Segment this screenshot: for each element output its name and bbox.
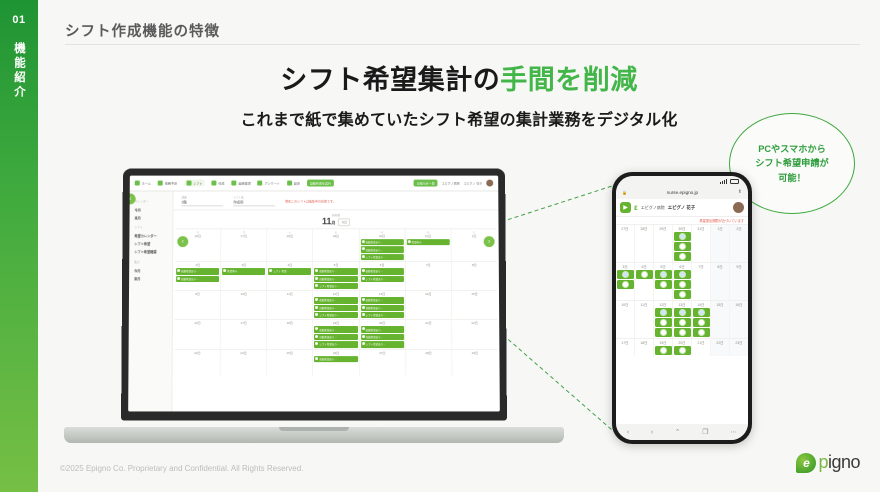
calendar-event[interactable]: シフト希望あり… <box>314 341 357 347</box>
calendar-cell[interactable]: 日26日 <box>175 229 221 261</box>
phone-shift-chip[interactable] <box>655 346 672 355</box>
calendar-event[interactable]: 日勤希望あり… <box>361 334 404 340</box>
nav-label: シフト <box>193 181 202 186</box>
shift-badge-icon <box>679 329 686 336</box>
phone-day-number: 10日 <box>617 302 634 307</box>
phone-calendar-cell[interactable]: 20日 <box>673 339 692 356</box>
phone-calendar-cell[interactable]: 16日 <box>730 301 748 338</box>
phone-day-number: 5日 <box>655 264 672 269</box>
phone-day-number: 29日 <box>655 226 672 231</box>
calendar-day-number: 23日 <box>176 351 219 355</box>
calendar-day-number: 8日 <box>453 263 496 267</box>
calendar-cell[interactable]: 16日 <box>175 320 221 348</box>
phone-calendar-cell[interactable]: 9日 <box>730 263 748 300</box>
phone-day-number: 18日 <box>636 340 653 345</box>
calendar-cell[interactable]: 23日 <box>175 350 221 376</box>
calendar-event[interactable]: 希望休み <box>407 239 450 245</box>
sidebar-item-total-next-month[interactable]: 来月 <box>132 274 169 282</box>
phone-shift-chip[interactable] <box>693 308 710 317</box>
avatar[interactable] <box>486 180 493 187</box>
calendar-event[interactable]: シフト希望あり… <box>361 276 404 282</box>
gear-icon <box>287 181 292 186</box>
calendar-day-number: 29日 <box>314 234 357 238</box>
phone-day-number: 27日 <box>617 226 634 231</box>
phone-statusbar <box>616 176 748 187</box>
phone-day-number: 14日 <box>693 302 710 307</box>
shift-badge-icon <box>698 309 705 316</box>
forward-icon[interactable]: › <box>651 429 653 436</box>
today-button[interactable]: 今日 <box>338 218 350 226</box>
calendar-cell[interactable]: 22日 <box>452 320 497 348</box>
phone-calendar-cell[interactable]: 23日 <box>730 339 748 356</box>
phone-day-number: 11日 <box>636 302 653 307</box>
phone-calendar-cell[interactable]: 13日 <box>673 301 692 338</box>
shift-badge-icon <box>660 281 667 288</box>
phone-calendar-cell[interactable]: 12日 <box>654 301 673 338</box>
shift-badge-icon <box>660 329 667 336</box>
calendar-day-number: 12日 <box>314 292 357 296</box>
phone-calendar-cell[interactable]: 31日 <box>692 225 711 262</box>
navbar-right: お知らせ一覧 エピグノ病院 エピグノ 花子 <box>414 180 493 187</box>
filter-department[interactable]: 部署 3階 <box>181 195 223 206</box>
shift-badge-icon <box>679 281 686 288</box>
calendar-row: 16日17日18日19日夜勤希望あり…日勤希望あり…シフト希望あり…20日夜勤希… <box>175 319 498 348</box>
laptop-screen: ホーム 勤務予定 シフト 作成 連絡事項 <box>128 176 500 412</box>
home-icon <box>135 181 140 186</box>
calendar-cell[interactable]: 28日 <box>406 350 452 376</box>
calendar-day-number: 24日 <box>222 351 265 355</box>
phone-mockup: 🔒 nurse.epigno.jp ⬆ ▶ ε エピグノ病院 エピグノ 花子 希… <box>612 172 752 447</box>
sidebar-item-shift-wish[interactable]: シフト希望 <box>132 240 169 248</box>
calendar-event[interactable]: 夜勤希望あり… <box>314 268 357 274</box>
phone-calendar-cell[interactable]: 15日 <box>711 301 730 338</box>
phone-calendar-cell[interactable]: 28日 <box>635 225 654 262</box>
calendar-event[interactable]: シフト希望あり… <box>314 283 357 289</box>
phone-day-number: 2日 <box>731 226 748 231</box>
auto-create-button[interactable]: 自動作成を実行 <box>307 180 334 187</box>
calendar-day-number: 18日 <box>268 321 311 325</box>
calendar-event[interactable]: 夜勤希望あり… <box>361 326 404 332</box>
phone-calendar-cell[interactable]: 7日 <box>692 263 711 300</box>
calendar-cell[interactable]: 14日 <box>406 291 452 319</box>
calendar-event[interactable]: 夜勤希望あり… <box>314 356 357 362</box>
calendar-event[interactable]: シフト希望あり… <box>361 341 404 347</box>
calendar-day-number: 17日 <box>222 321 265 325</box>
phone-calendar-cell[interactable]: 27日 <box>616 225 635 262</box>
calendar-event[interactable]: 希望休み <box>222 268 265 274</box>
shift-badge-icon <box>679 319 686 326</box>
nav-item-home[interactable]: ホーム <box>135 181 151 186</box>
page-title: シフト希望集計の手間を削減 <box>38 58 880 97</box>
calendar-icon <box>186 181 191 186</box>
phone-shift-chip[interactable] <box>674 270 691 279</box>
phone-shift-chip[interactable] <box>693 318 710 327</box>
section-rail: 01 機能紹介 <box>0 0 38 492</box>
header-divider <box>65 44 860 45</box>
laptop-base <box>64 427 564 443</box>
phone-calendar: 27日28日29日30日31日1日2日3日4日5日6日7日8日9日10日11日1… <box>616 224 748 356</box>
calendar-cell[interactable]: 29日 <box>452 350 497 376</box>
calendar-cell[interactable]: 18日 <box>267 320 313 348</box>
sidebar-item-shift-wish-check[interactable]: シフト希望確認 <box>132 248 169 256</box>
filter-value: 3階 <box>181 199 223 206</box>
phone-day-number: 4日 <box>636 264 653 269</box>
phone-day-number: 7日 <box>693 264 710 269</box>
sidebar-group-title: シフト <box>134 226 169 230</box>
phone-calendar-cell[interactable]: 19日 <box>654 339 673 356</box>
url-text: nurse.epigno.jp <box>630 190 735 195</box>
laptop-mockup: ホーム 勤務予定 シフト 作成 連絡事項 <box>64 168 564 443</box>
calendar-row: 9日10日11日12日夜勤希望あり…日勤希望あり…シフト希望あり…13日夜勤希望… <box>175 290 497 319</box>
calendar-event[interactable]: 日勤希望あり… <box>314 334 357 340</box>
calendar-cell[interactable]: 19日夜勤希望あり…日勤希望あり…シフト希望あり… <box>313 320 359 348</box>
calendar-cell[interactable]: 火28日 <box>267 229 313 261</box>
laptop-lid: ホーム 勤務予定 シフト 作成 連絡事項 <box>121 169 507 421</box>
calendar-cell[interactable]: 6日夜勤希望あり…シフト希望あり… <box>360 262 406 290</box>
phone-day-number: 9日 <box>731 264 748 269</box>
phone-org-name: エピグノ病院 <box>641 205 665 211</box>
shift-badge-icon <box>679 309 686 316</box>
calendar-day-number: 26日 <box>314 351 357 355</box>
phone-calendar-row: 27日28日29日30日31日1日2日 <box>616 224 748 262</box>
app-navbar: ホーム 勤務予定 シフト 作成 連絡事項 <box>130 176 499 192</box>
phone-calendar-cell[interactable]: 29日 <box>654 225 673 262</box>
phone-screen: 🔒 nurse.epigno.jp ⬆ ▶ ε エピグノ病院 エピグノ 花子 希… <box>616 176 748 440</box>
calendar-cell[interactable]: 26日夜勤希望あり… <box>313 350 359 376</box>
calendar-event[interactable]: 日勤希望あり… <box>360 246 403 252</box>
phone-shift-chip[interactable] <box>674 328 691 337</box>
month-navigator: ‹ 2025年 11 月 今日 › <box>173 210 498 228</box>
calendar-day-number: 30日 <box>360 234 403 238</box>
calendar-day-number: 11日 <box>268 292 311 296</box>
calendar-cell[interactable]: 24日 <box>221 350 267 376</box>
calendar-cell[interactable]: 4日シフト 希望 <box>267 262 313 290</box>
nav-label: ホーム <box>142 181 151 186</box>
calendar-day-number: 16日 <box>176 321 219 325</box>
phone-shift-chip[interactable] <box>674 232 691 241</box>
phone-calendar-cell[interactable]: 22日 <box>711 339 730 356</box>
phone-calendar-cell[interactable]: 10日 <box>616 301 635 338</box>
phone-day-number: 20日 <box>674 340 691 345</box>
calendar-cell[interactable]: 21日 <box>406 320 452 348</box>
calendar-day-number: 1日 <box>453 234 496 238</box>
phone-shift-chip[interactable] <box>617 280 634 289</box>
calendar-day-number: 10日 <box>222 292 265 296</box>
calendar-event[interactable]: 日勤希望あり… <box>314 305 357 311</box>
calendar-event[interactable]: 夜勤希望あり… <box>361 297 404 303</box>
lock-icon: 🔒 <box>622 190 627 195</box>
calendar-day-number: 29日 <box>453 351 496 355</box>
shift-badge-icon <box>679 291 686 298</box>
phone-shift-chip[interactable] <box>674 252 691 261</box>
calendar-cell[interactable]: 木30日夜勤希望あり…日勤希望あり…シフト希望あり… <box>359 229 405 261</box>
calendar-event[interactable]: 日勤希望あり… <box>176 276 219 282</box>
brand-logo: e ppignoigno <box>796 452 860 473</box>
calendar-row: 2日夜勤希望あり…日勤希望あり…3日希望休み4日シフト 希望5日夜勤希望あり…日… <box>175 261 497 290</box>
sidebar-item-wish-calendar[interactable]: 希望カレンダー <box>132 232 169 240</box>
month-display: 2025年 11 月 今日 <box>322 213 350 226</box>
calendar-day-number: 5日 <box>314 263 357 267</box>
phone-day-number: 8日 <box>712 264 729 269</box>
pen-icon <box>211 181 216 186</box>
shift-badge-icon <box>660 347 667 354</box>
phone-day-number: 6日 <box>674 264 691 269</box>
app-main: 部署 3階 シフト表 作成用 現在このシフトは編集中の状態です。 ‹ 2025年 <box>172 191 499 411</box>
shift-badge-icon <box>698 329 705 336</box>
nav-label: 勤務予定 <box>165 181 177 186</box>
calendar-day-number: 27日 <box>361 351 404 355</box>
calendar-cell[interactable]: 月27日 <box>221 229 267 261</box>
calendar-cell[interactable]: 10日 <box>221 291 267 319</box>
nav-item-shift[interactable]: シフト <box>184 180 204 187</box>
calendar-cell[interactable]: 11日 <box>267 291 313 319</box>
sidebar-group-title: 集計 <box>134 260 169 264</box>
nav-user-dept: エピグノ病院 <box>442 181 460 185</box>
nav-item-schedule[interactable]: 勤務予定 <box>158 181 177 186</box>
phone-calendar-cell[interactable]: 6日 <box>673 263 692 300</box>
nav-label: 連絡事項 <box>238 181 250 186</box>
calendar-day-number: 9日 <box>176 292 219 296</box>
phone-shift-chip[interactable] <box>674 290 691 299</box>
bubble-line-2: シフト希望申請が <box>755 156 829 170</box>
nav-item-create[interactable]: 作成 <box>211 181 224 186</box>
epigno-leaf-icon: e <box>796 453 816 473</box>
calendar-event[interactable]: 夜勤希望あり… <box>314 297 357 303</box>
sidebar-group-title: カレンダー <box>135 199 170 203</box>
nav-label: 設定 <box>294 181 300 186</box>
calendar-day-number: 15日 <box>453 292 496 296</box>
app-body: ‹ カレンダー 今月 来月 シフト 希望カレンダー シフト希望 シフト希望確認 … <box>128 191 500 411</box>
phone-calendar-cell[interactable]: 1日 <box>711 225 730 262</box>
bubble-line-1: PCやスマホから <box>758 142 826 156</box>
section-number: 01 <box>12 14 25 26</box>
sidebar-item-this-month[interactable]: 今月 <box>133 205 170 213</box>
calendar-day-number: 2日 <box>176 263 219 267</box>
calendar-cell[interactable]: 2日夜勤希望あり…日勤希望あり… <box>175 262 221 290</box>
shift-badge-icon <box>679 347 686 354</box>
calendar-day-number: 28日 <box>268 234 311 238</box>
avatar[interactable] <box>733 202 744 213</box>
calendar-day-number: 31日 <box>406 234 449 238</box>
tabs-icon[interactable]: ❐ <box>702 428 708 436</box>
calendar-day-number: 13日 <box>361 292 404 296</box>
phone-day-number: 17日 <box>617 340 634 345</box>
calendar-cell[interactable]: 13日夜勤希望あり…日勤希望あり…シフト希望あり… <box>360 291 406 319</box>
shift-badge-icon <box>641 271 648 278</box>
chat-icon <box>231 181 236 186</box>
calendar-day-number: 4日 <box>268 263 311 267</box>
shift-badge-icon <box>622 271 629 278</box>
calendar-day-number: 21日 <box>407 321 450 325</box>
phone-shift-chip[interactable] <box>674 308 691 317</box>
phone-calendar-cell[interactable]: 4日 <box>635 263 654 300</box>
calendar-event[interactable]: 夜勤希望あり… <box>360 239 403 245</box>
phone-day-number: 28日 <box>636 226 653 231</box>
section-label: 機能紹介 <box>11 42 27 100</box>
calendar-cell[interactable]: 9日 <box>175 291 221 319</box>
browser-bottom-bar: ‹ › ⌃ ❐ ⋯ <box>616 424 748 440</box>
phone-calendar-cell[interactable]: 2日 <box>730 225 748 262</box>
calendar-row: 日26日月27日火28日水29日木30日夜勤希望あり…日勤希望あり…シフト希望あ… <box>175 228 497 261</box>
phone-day-number: 1日 <box>712 226 729 231</box>
phone-shift-chip[interactable] <box>693 328 710 337</box>
phone-shift-chip[interactable] <box>674 318 691 327</box>
nav-label: 作成 <box>218 181 224 186</box>
calendar-day-number: 20日 <box>361 321 404 325</box>
phone-day-number: 12日 <box>655 302 672 307</box>
phone-calendar-cell[interactable]: 8日 <box>711 263 730 300</box>
phone-calendar-row: 10日11日12日13日14日15日16日 <box>616 300 748 338</box>
phone-alert-text: 希望提出期限が近づいています <box>616 217 748 224</box>
share-icon[interactable]: ⬆ <box>738 189 742 195</box>
calendar-day-number: 19日 <box>314 321 357 325</box>
phone-day-number: 13日 <box>674 302 691 307</box>
phone-shift-chip[interactable] <box>674 346 691 355</box>
phone-calendar-cell[interactable]: 18日 <box>635 339 654 356</box>
more-icon[interactable]: ⋯ <box>730 428 737 436</box>
calendar-cell[interactable]: 17日 <box>221 320 267 348</box>
phone-calendar-cell[interactable]: 5日 <box>654 263 673 300</box>
calendar-cell[interactable]: 8日 <box>452 262 497 290</box>
phone-day-number: 16日 <box>731 302 748 307</box>
app-logo-icon: ▶ <box>620 202 631 213</box>
phone-calendar-row: 3日4日5日6日7日8日9日 <box>616 262 748 300</box>
shift-badge-icon <box>660 309 667 316</box>
phone-day-number: 23日 <box>731 340 748 345</box>
sidebar-item-total-this-month[interactable]: 今月 <box>132 266 169 274</box>
phone-day-number: 15日 <box>712 302 729 307</box>
share-icon[interactable]: ⌃ <box>675 428 681 436</box>
shift-badge-icon <box>679 233 686 240</box>
calendar-event[interactable]: シフト希望あり… <box>360 254 403 260</box>
calendar-cell[interactable]: 土1日 <box>451 229 496 261</box>
title-plain: シフト希望集計の <box>280 65 500 95</box>
calendar-cell[interactable]: 7日 <box>406 262 452 290</box>
shift-badge-icon <box>660 271 667 278</box>
phone-day-number: 30日 <box>674 226 691 231</box>
people-icon <box>158 181 163 186</box>
shift-badge-icon <box>679 271 686 278</box>
calendar-event[interactable]: 夜勤希望あり… <box>176 268 219 274</box>
back-icon[interactable]: ‹ <box>627 429 629 436</box>
filter-value: 作成用 <box>233 199 275 206</box>
calendar-cell[interactable]: 水29日 <box>313 229 359 261</box>
phone-user-name: エピグノ 花子 <box>668 205 695 211</box>
calendar-event[interactable]: シフト希望あり… <box>314 312 357 318</box>
nav-item-notice[interactable]: 連絡事項 <box>231 181 250 186</box>
shift-badge-icon <box>622 281 629 288</box>
calendar-event[interactable]: 夜勤希望あり… <box>314 326 357 332</box>
phone-calendar-cell[interactable]: 21日 <box>692 339 711 356</box>
phone-shift-chip[interactable] <box>674 280 691 289</box>
phone-shift-chip[interactable] <box>655 270 672 279</box>
calendar-cell[interactable]: 3日希望休み <box>221 262 267 290</box>
clipboard-icon <box>258 181 263 186</box>
shift-badge-icon <box>698 319 705 326</box>
calendar-cell[interactable]: 25日 <box>267 350 313 376</box>
phone-calendar-cell[interactable]: 30日 <box>673 225 692 262</box>
calendar-day-number: 25日 <box>268 351 311 355</box>
phone-shift-chip[interactable] <box>655 280 672 289</box>
brand-wordmark: ppignoigno <box>818 452 860 473</box>
phone-calendar-cell[interactable]: 14日 <box>692 301 711 338</box>
shift-badge-icon <box>679 243 686 250</box>
calendar-day-number: 28日 <box>407 351 450 355</box>
phone-calendar-cell[interactable]: 11日 <box>635 301 654 338</box>
calendar-day-number: 26日 <box>176 234 219 238</box>
calendar-cell[interactable]: 20日夜勤希望あり…日勤希望あり…シフト希望あり… <box>360 320 406 348</box>
bubble-line-3: 可能！ <box>778 171 806 185</box>
nav-item-settings[interactable]: 設定 <box>287 181 300 186</box>
nav-user-name: エピグノ 花子 <box>464 181 483 185</box>
calendar-cell[interactable]: 15日 <box>452 291 497 319</box>
calendar-event[interactable]: 夜勤希望あり… <box>361 268 404 274</box>
footer-copyright: ©2025 Epigno Co. Proprietary and Confide… <box>60 464 303 473</box>
sidebar-item-next-month[interactable]: 来月 <box>133 213 170 221</box>
title-highlight: 手間を削減 <box>500 65 638 95</box>
phone-day-number: 19日 <box>655 340 672 345</box>
filter-shift-table[interactable]: シフト表 作成用 <box>233 195 275 206</box>
calendar-day-number: 27日 <box>222 234 265 238</box>
phone-frame: 🔒 nurse.epigno.jp ⬆ ▶ ε エピグノ病院 エピグノ 花子 希… <box>612 172 752 444</box>
phone-shift-chip[interactable] <box>655 328 672 337</box>
calendar-event[interactable]: 日勤希望あり… <box>314 276 357 282</box>
phone-calendar-row: 17日18日19日20日21日22日23日 <box>616 338 748 356</box>
calendar-event[interactable]: シフト 希望 <box>268 268 311 274</box>
calendar-day-number: 14日 <box>407 292 450 296</box>
calendar-day-number: 22日 <box>453 321 496 325</box>
phone-day-number: 31日 <box>693 226 710 231</box>
shift-badge-icon <box>660 319 667 326</box>
month-unit: 月 <box>331 220 335 225</box>
signal-icon <box>720 179 727 184</box>
notice-list-button[interactable]: お知らせ一覧 <box>414 180 438 187</box>
phone-shift-chip[interactable] <box>655 318 672 327</box>
app-wordmark-icon: ε <box>634 203 638 212</box>
calendar-cell[interactable]: 5日夜勤希望あり…日勤希望あり…シフト希望あり… <box>313 262 359 290</box>
phone-shift-chip[interactable] <box>655 308 672 317</box>
phone-day-number: 21日 <box>693 340 710 345</box>
calendar-cell[interactable]: 金31日希望休み <box>405 229 451 261</box>
filter-status-note: 現在このシフトは編集中の状態です。 <box>285 199 336 203</box>
calendar-cell[interactable]: 12日夜勤希望あり…日勤希望あり…シフト希望あり… <box>313 291 359 319</box>
calendar-day-number: 7日 <box>407 263 450 267</box>
phone-shift-chip[interactable] <box>617 270 634 279</box>
phone-shift-chip[interactable] <box>674 242 691 251</box>
calendar-event[interactable]: 日勤希望あり… <box>361 305 404 311</box>
phone-day-number: 22日 <box>712 340 729 345</box>
phone-day-number: 3日 <box>617 264 634 269</box>
calendar-day-number: 6日 <box>361 263 404 267</box>
shift-badge-icon <box>679 253 686 260</box>
filter-bar: 部署 3階 シフト表 作成用 現在このシフトは編集中の状態です。 <box>173 191 498 210</box>
browser-url-bar[interactable]: 🔒 nurse.epigno.jp ⬆ <box>616 187 748 199</box>
phone-calendar-cell[interactable]: 17日 <box>616 339 635 356</box>
battery-icon <box>730 179 739 184</box>
slide-kicker: シフト作成機能の特徴 <box>65 20 220 41</box>
calendar-cell[interactable]: 27日 <box>360 350 406 376</box>
calendar-row: 23日24日25日26日夜勤希望あり…27日28日29日 <box>175 349 498 376</box>
nav-item-survey[interactable]: アンケート <box>258 181 280 186</box>
phone-app-header: ▶ ε エピグノ病院 エピグノ 花子 <box>616 199 748 217</box>
nav-label: アンケート <box>265 181 280 186</box>
phone-calendar-cell[interactable]: 3日 <box>616 263 635 300</box>
calendar-event[interactable]: シフト希望あり… <box>361 312 404 318</box>
calendar-day-number: 3日 <box>222 263 265 267</box>
phone-shift-chip[interactable] <box>636 270 653 279</box>
app-sidebar: ‹ カレンダー 今月 来月 シフト 希望カレンダー シフト希望 シフト希望確認 … <box>128 191 173 411</box>
shift-calendar: 日26日月27日火28日水29日木30日夜勤希望あり…日勤希望あり…シフト希望あ… <box>173 228 500 375</box>
